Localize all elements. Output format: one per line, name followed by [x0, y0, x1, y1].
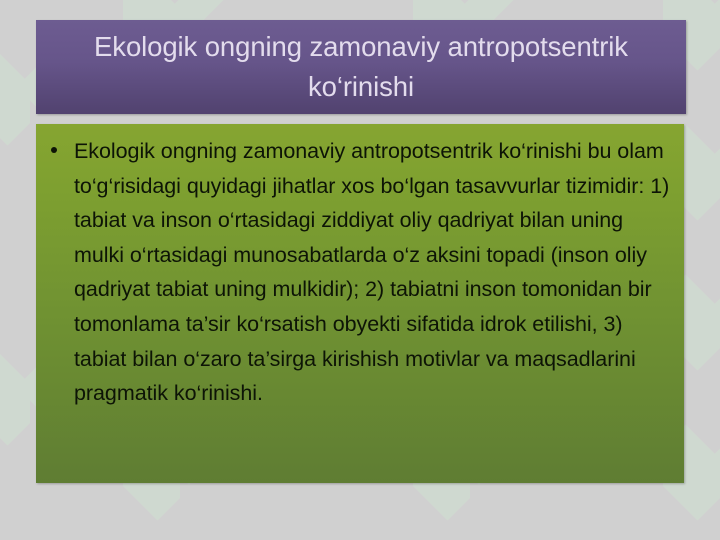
bullet-list: Ekologik ongning zamonaviy antropotsentr… — [44, 134, 678, 411]
slide-content-box: Ekologik ongning zamonaviy antropotsentr… — [36, 124, 684, 483]
list-item-text: Ekologik ongning zamonaviy antropotsentr… — [74, 139, 669, 405]
page-title: Ekologik ongning zamonaviy antropotsentr… — [46, 27, 676, 107]
slide-title-box: Ekologik ongning zamonaviy antropotsentr… — [36, 20, 686, 114]
bullet-dot-icon — [51, 147, 57, 153]
list-item: Ekologik ongning zamonaviy antropotsentr… — [44, 134, 678, 411]
slide-canvas: Ekologik ongning zamonaviy antropotsentr… — [0, 0, 720, 540]
